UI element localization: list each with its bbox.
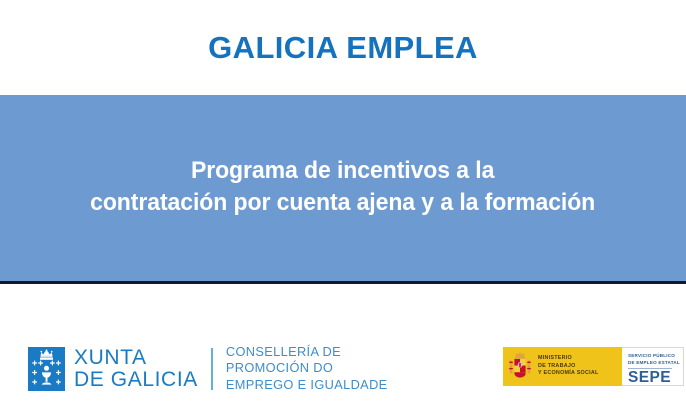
- title-zone: GALICIA EMPLEA: [0, 0, 686, 95]
- sepe-descriptor-line-2: DE EMPLEO ESTATAL: [628, 360, 683, 367]
- logo-divider: [211, 348, 213, 390]
- sepe-wordmark: SEPE: [628, 370, 683, 386]
- conselleria-line-2: PROMOCIÓN DO: [226, 360, 388, 376]
- footer-logo-strip: XUNTA DE GALICIA CONSELLERÍA DE PROMOCIÓ…: [0, 284, 686, 410]
- xunta-coat-of-arms-icon: [28, 347, 65, 391]
- page-title: GALICIA EMPLEA: [208, 32, 478, 63]
- ministerio-sepe-logo: MINISTERIO DE TRABAJO Y ECONOMÍA SOCIAL …: [503, 347, 684, 386]
- sepe-block: SERVICIO PÚBLICO DE EMPLEO ESTATAL SEPE: [622, 347, 684, 386]
- conselleria-line-1: CONSELLERÍA DE: [226, 344, 388, 360]
- xunta-wordmark-line-1: XUNTA: [74, 347, 198, 369]
- xunta-wordmark: XUNTA DE GALICIA: [74, 347, 198, 391]
- poster-page: GALICIA EMPLEA Programa de incentivos a …: [0, 0, 686, 410]
- conselleria-wordmark: CONSELLERÍA DE PROMOCIÓN DO EMPREGO E IG…: [226, 344, 388, 393]
- ministerio-wordmark: MINISTERIO DE TRABAJO Y ECONOMÍA SOCIAL: [538, 355, 599, 378]
- ministerio-line-3: Y ECONOMÍA SOCIAL: [538, 370, 599, 378]
- conselleria-line-3: EMPREGO E IGUALDADE: [226, 377, 388, 393]
- ministerio-line-1: MINISTERIO: [538, 355, 599, 363]
- sepe-descriptor-line-1: SERVICIO PÚBLICO: [628, 353, 683, 360]
- sepe-descriptor: SERVICIO PÚBLICO DE EMPLEO ESTATAL: [628, 353, 683, 366]
- spain-coat-of-arms-icon: [507, 351, 533, 382]
- banner-line-1: Programa de incentivos a la: [90, 155, 595, 187]
- banner-line-2: contratación por cuenta ajena y a la for…: [90, 187, 595, 219]
- ministerio-block: MINISTERIO DE TRABAJO Y ECONOMÍA SOCIAL: [503, 347, 622, 386]
- program-banner: Programa de incentivos a la contratación…: [0, 95, 686, 281]
- xunta-de-galicia-logo: XUNTA DE GALICIA CONSELLERÍA DE PROMOCIÓ…: [28, 344, 388, 393]
- xunta-wordmark-line-2: DE GALICIA: [74, 369, 198, 391]
- banner-text-block: Programa de incentivos a la contratación…: [90, 155, 595, 222]
